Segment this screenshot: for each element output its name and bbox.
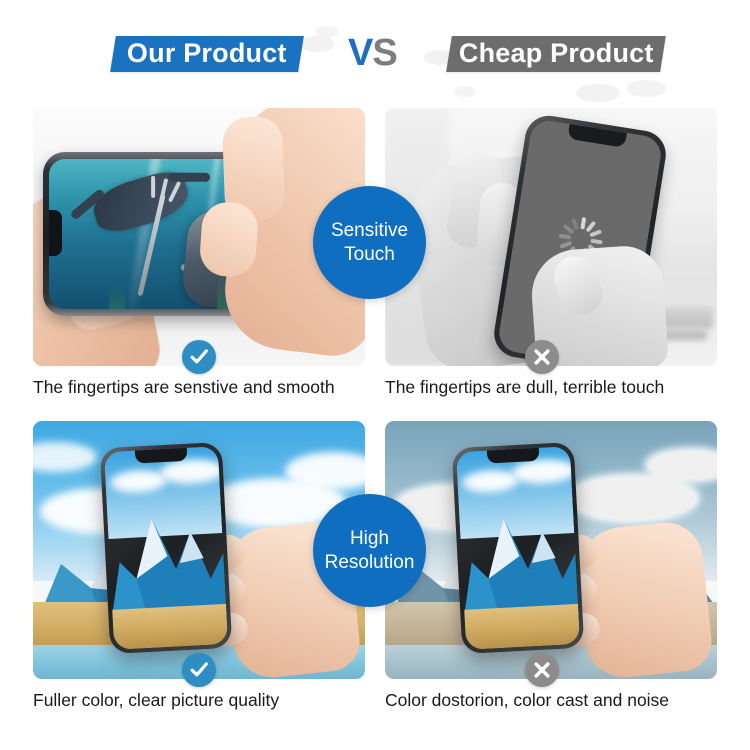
decor-blob-1 xyxy=(300,36,334,52)
comparison-infographic: Our Product VS Cheap Product xyxy=(0,0,750,750)
callout-high-resolution: High Resolution xyxy=(313,494,426,607)
check-icon xyxy=(182,653,216,687)
caption-our-resolution: Fuller color, clear picture quality xyxy=(33,689,373,711)
caption-our-touch: The fingertips are senstive and smooth xyxy=(33,376,373,398)
panel-cheap-resolution: Color dostorion, color cast and noise xyxy=(385,421,717,679)
header-banner: Our Product VS Cheap Product xyxy=(0,0,750,104)
diver-arm xyxy=(69,188,105,221)
cross-icon xyxy=(525,653,559,687)
mountain-range xyxy=(458,486,578,615)
trident-prong xyxy=(151,176,155,198)
screen-mountain-scene xyxy=(456,446,580,650)
smartphone-portrait xyxy=(100,442,233,654)
vs-separator: VS xyxy=(348,31,397,75)
callout-resolution-line1: High xyxy=(325,527,415,551)
vs-letter-v: V xyxy=(348,32,372,74)
callout-sensitive-touch: Sensitive Touch xyxy=(313,186,426,299)
callout-resolution-line2: Resolution xyxy=(325,551,415,575)
callout-touch-line1: Sensitive xyxy=(331,219,408,243)
foreground-grassland xyxy=(112,604,228,650)
phone-notch xyxy=(49,210,62,256)
callout-touch-line2: Touch xyxy=(331,243,408,267)
cross-icon xyxy=(525,340,559,374)
thumb xyxy=(548,250,608,321)
caption-cheap-resolution: Color dostorion, color cast and noise xyxy=(385,689,725,711)
cheap-product-label: Cheap Product xyxy=(459,40,654,69)
our-product-label: Our Product xyxy=(127,40,287,69)
caption-cheap-touch: The fingertips are dull, terrible touch xyxy=(385,376,725,398)
phone-screen-landscape-photo xyxy=(104,446,228,650)
screen-mountain-scene xyxy=(104,446,228,650)
decor-blob-6 xyxy=(454,86,476,97)
phone-notch xyxy=(567,124,627,148)
right-hand xyxy=(574,519,715,679)
finger xyxy=(198,201,259,279)
decor-blob-4 xyxy=(576,84,620,102)
mountain-range xyxy=(106,486,226,615)
smartphone-portrait xyxy=(452,442,585,654)
phone-screen-landscape-photo xyxy=(456,446,580,650)
phone-notch xyxy=(135,448,188,464)
our-product-badge: Our Product xyxy=(110,36,304,72)
photo-cheap-touch xyxy=(385,108,717,366)
seaweed xyxy=(109,285,125,309)
photo-cheap-resolution xyxy=(385,421,717,679)
decor-blob-5 xyxy=(626,80,666,97)
panel-cheap-touch: The fingertips are dull, terrible touch xyxy=(385,108,717,366)
vs-letter-s: S xyxy=(372,32,396,74)
foreground-grassland xyxy=(464,604,580,650)
decor-blob-2 xyxy=(316,26,338,38)
check-icon xyxy=(182,340,216,374)
diver-arm xyxy=(168,173,210,182)
cheap-product-badge: Cheap Product xyxy=(446,36,666,72)
phone-notch xyxy=(487,448,540,464)
